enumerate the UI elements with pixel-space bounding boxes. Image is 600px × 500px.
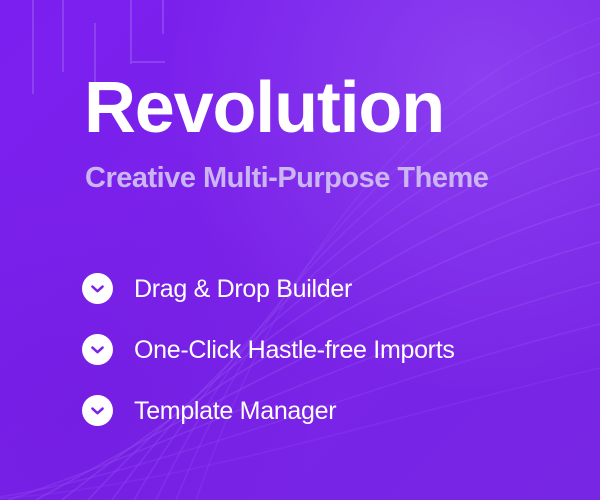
page-subtitle: Creative Multi-Purpose Theme — [85, 161, 488, 195]
promo-banner: Revolution Creative Multi-Purpose Theme … — [0, 0, 600, 500]
check-circle-icon — [82, 395, 113, 426]
list-item: Drag & Drop Builder — [82, 258, 455, 319]
list-item: One-Click Hastle-free Imports — [82, 319, 455, 380]
check-circle-icon — [82, 334, 113, 365]
feature-label: One-Click Hastle-free Imports — [134, 336, 455, 364]
feature-label: Template Manager — [134, 397, 336, 425]
list-item: Template Manager — [82, 380, 455, 441]
feature-list: Drag & Drop Builder One-Click Hastle-fre… — [82, 258, 455, 441]
banner-content: Revolution Creative Multi-Purpose Theme … — [84, 0, 600, 500]
check-circle-icon — [82, 273, 113, 304]
feature-label: Drag & Drop Builder — [134, 275, 352, 303]
page-title: Revolution — [84, 72, 444, 144]
